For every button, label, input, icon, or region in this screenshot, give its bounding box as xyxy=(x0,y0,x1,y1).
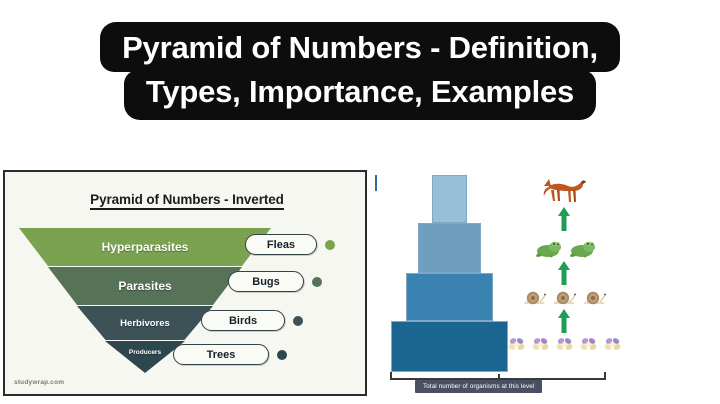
callout-dot-icon xyxy=(277,350,287,360)
organism-row-snails xyxy=(495,285,635,307)
pyramid-tier-label: Herbivores xyxy=(120,318,170,329)
energy-flow-arrow-icon xyxy=(557,309,571,333)
step-tier-third xyxy=(406,273,493,321)
pyramid-tier-label: Parasites xyxy=(118,279,171,293)
step-tier-second xyxy=(418,223,481,273)
inverted-pyramid-heading-text: Pyramid of Numbers - Inverted xyxy=(90,192,284,210)
callout-trees: Trees xyxy=(173,344,287,365)
inverted-pyramid-figure: Pyramid of Numbers - Inverted Hyperparas… xyxy=(3,170,367,396)
callout-dot-icon xyxy=(312,277,322,287)
snail-icon xyxy=(552,289,578,307)
frog-icon xyxy=(567,239,597,259)
pyramid-tier-label: Hyperparasites xyxy=(102,240,189,254)
bracket-caption-label: Total number of organisms at this level xyxy=(415,380,542,393)
callout-fleas: Fleas xyxy=(245,234,335,255)
energy-flow-arrow-icon xyxy=(557,207,571,231)
snail-icon xyxy=(582,289,608,307)
inverted-pyramid-heading: Pyramid of Numbers - Inverted xyxy=(5,192,369,207)
page-title-line-2: Types, Importance, Examples xyxy=(124,70,596,120)
fox-icon xyxy=(542,177,588,207)
callout-birds: Birds xyxy=(201,310,303,331)
callout-dot-icon xyxy=(293,316,303,326)
organism-row-fox xyxy=(500,173,630,207)
axis-tick-mark xyxy=(375,175,377,191)
pyramid-tier-label: Producers xyxy=(129,349,161,356)
snail-icon xyxy=(522,289,548,307)
watermark-text: studywrap.com xyxy=(14,379,64,386)
organism-row-flowers xyxy=(487,333,643,353)
callout-label: Trees xyxy=(173,344,269,365)
pyramid-tier-parasites: Parasites xyxy=(48,267,242,305)
pyramid-tier-herbivores: Herbivores xyxy=(77,306,213,340)
callout-dot-icon xyxy=(325,240,335,250)
callout-label: Fleas xyxy=(245,234,317,255)
number-pyramid-figure: Total number of organisms at this level xyxy=(375,165,720,404)
callout-label: Bugs xyxy=(228,271,304,292)
frog-icon xyxy=(533,239,563,259)
flower-icon xyxy=(555,335,575,353)
flower-icon xyxy=(579,335,599,353)
flower-icon xyxy=(531,335,551,353)
callout-bugs: Bugs xyxy=(228,271,322,292)
pyramid-tier-hyperparasites: Hyperparasites xyxy=(19,228,271,266)
callout-label: Birds xyxy=(201,310,285,331)
energy-flow-arrow-icon xyxy=(557,261,571,285)
flower-icon xyxy=(507,335,527,353)
organism-row-frogs xyxy=(500,233,630,259)
page-title-line-1: Pyramid of Numbers - Definition, xyxy=(100,22,620,72)
page-title-banner: Pyramid of Numbers - Definition, Types, … xyxy=(0,22,720,120)
step-tier-top xyxy=(432,175,467,223)
flower-icon xyxy=(603,335,623,353)
